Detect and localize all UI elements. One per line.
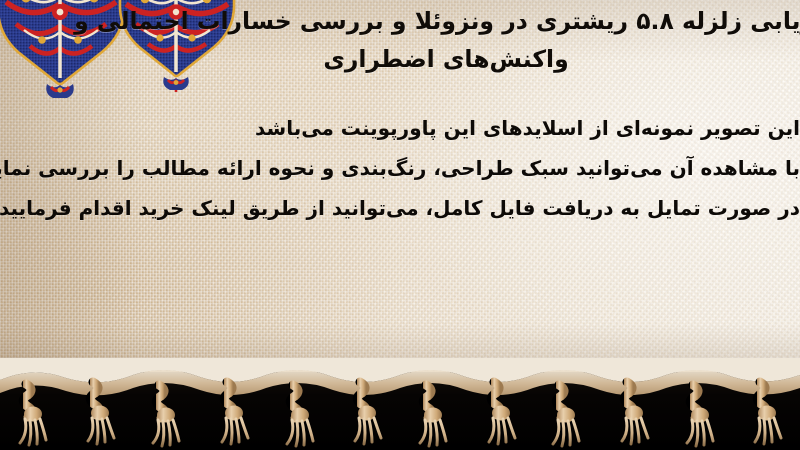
slide-canvas: زیابی زلزله ۵.۸ ریشتری در ونزوئلا و بررس…: [0, 0, 800, 450]
slide-title-line-2: واکنش‌های اضطراری: [114, 40, 778, 78]
slide-title: زیابی زلزله ۵.۸ ریشتری در ونزوئلا و بررس…: [114, 2, 800, 78]
slide-body-line-2: با مشاهده آن می‌توانید سبک طراحی، رنگ‌بن…: [4, 148, 800, 188]
slide-body-line-3: در صورت تمایل به دریافت فایل کامل، می‌تو…: [4, 188, 800, 228]
slide-text-layer: زیابی زلزله ۵.۸ ریشتری در ونزوئلا و بررس…: [0, 0, 800, 376]
slide-title-line-1: زیابی زلزله ۵.۸ ریشتری در ونزوئلا و بررس…: [114, 2, 800, 40]
slide-body: این تصویر نمونه‌ای از اسلایدهای این پاور…: [0, 108, 800, 228]
slide-body-line-1: این تصویر نمونه‌ای از اسلایدهای این پاور…: [4, 108, 800, 148]
